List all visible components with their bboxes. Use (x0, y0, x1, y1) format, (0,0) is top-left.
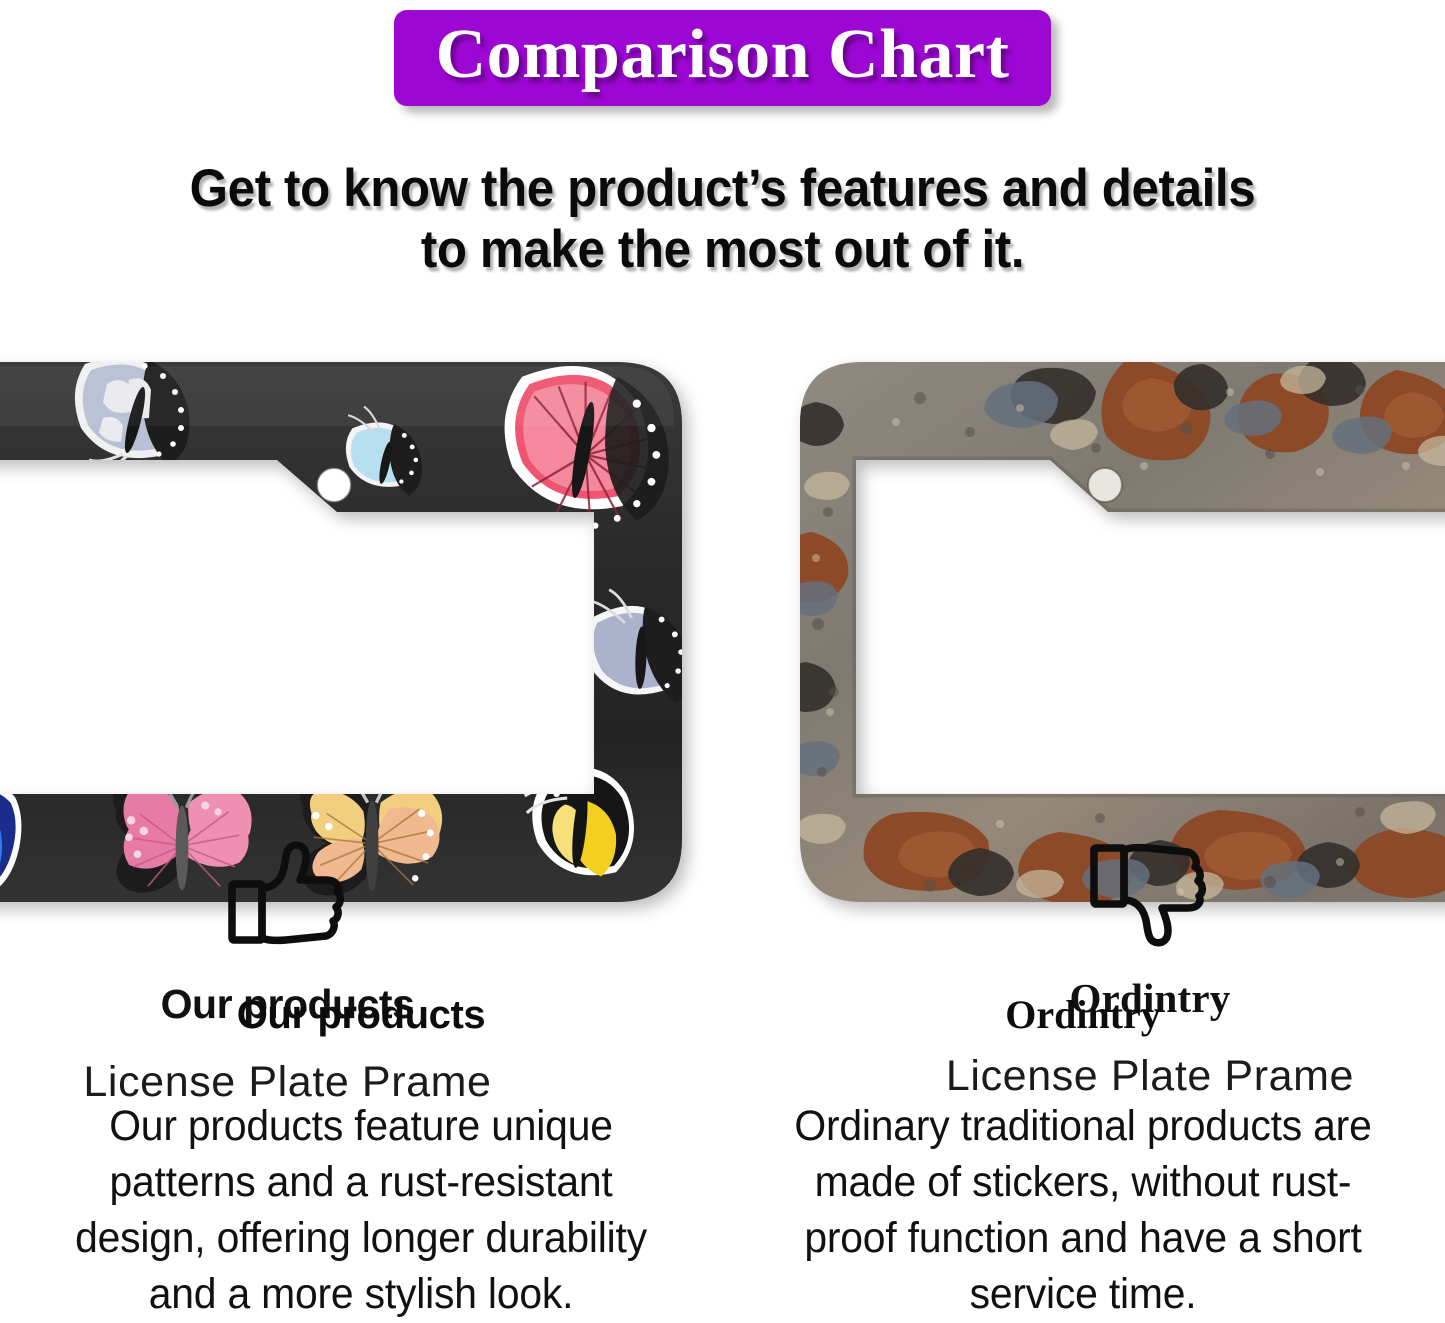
ours-heading: Our products (34, 995, 688, 1035)
rusty-frame-svg (800, 362, 1445, 902)
our-product-frame-image (0, 362, 702, 902)
ours-description: Our products feature unique patterns and… (50, 1099, 671, 1323)
product-frames-stage: Our products License Plate Prame Ordintr… (0, 362, 1445, 907)
ordinary-heading: Ordintry (756, 995, 1410, 1035)
title-banner: Comparison Chart (394, 10, 1052, 106)
title-banner-wrapper: Comparison Chart (0, 10, 1445, 106)
subtitle-text: Get to know the product’s features and d… (51, 158, 1395, 281)
comparison-columns: Our products Our products feature unique… (0, 995, 1445, 1323)
ordinary-description: Ordinary traditional products are made o… (772, 1099, 1393, 1323)
ordinary-product-frame-image (800, 362, 1445, 902)
thumbs-down-icon (1088, 840, 1212, 948)
comparison-column-ordinary: Ordintry Ordinary traditional products a… (722, 995, 1444, 1323)
page-title: Comparison Chart (436, 16, 1010, 94)
butterfly-frame-svg (0, 362, 702, 902)
comparison-column-ours: Our products Our products feature unique… (0, 995, 722, 1323)
thumbs-up-icon (226, 840, 350, 948)
